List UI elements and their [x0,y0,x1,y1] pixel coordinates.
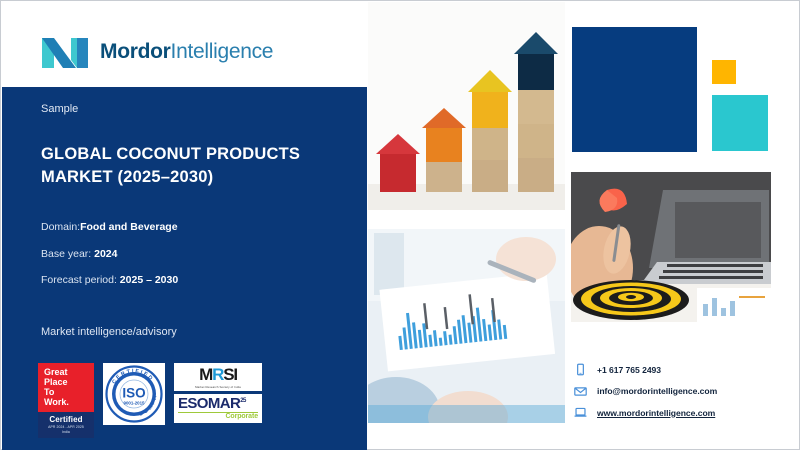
svg-text:ISO: ISO [122,386,145,401]
metadata-label-domain: Domain: [41,221,80,233]
brand-name-light: Intelligence [171,40,274,63]
cyan-square [712,95,768,151]
dart-on-target-illustration [571,172,771,322]
gptw-line-1: Great [44,367,89,377]
mrsi-subtitle: Market Research Society of India [178,385,258,389]
envelope-icon [574,385,587,398]
contact-details: +1 617 765 2493 info@mordorintelligence.… [574,363,717,419]
sample-label: Sample [41,103,78,115]
contact-row-email[interactable]: info@mordorintelligence.com [574,385,717,398]
contact-row-phone[interactable]: +1 617 765 2493 [574,363,717,376]
gptw-certified-block: Certified APR 2024 - APR 2025 India [38,412,94,439]
brand-name-bold: Mordor [100,40,171,63]
svg-text:9001-2015: 9001-2015 [124,401,146,406]
report-metadata: Domain:Food and Beverage Base year: 2024… [41,221,346,301]
mrsi-badge: MRSI Market Research Society of India [174,363,262,391]
research-association-badges: MRSI Market Research Society of India ES… [174,363,262,423]
iso-certified-badge: CERTIFIED COMPANY ISO 9001-2015 [103,363,165,425]
great-place-to-work-badge: Great Place To Work. Certified APR 2024 … [38,363,94,438]
esomar-badge: ESOMAR25 Corporate [174,394,262,424]
gptw-title: Great Place To Work. [38,363,94,412]
esomar-word: ESOMAR [178,395,240,412]
brand-logo[interactable]: MordorIntelligence [41,34,273,70]
mobile-phone-icon [574,363,587,376]
gptw-line-2: Place [44,377,89,387]
mrsi-wordmark: MRSI [178,366,258,383]
dart-target-photo [571,172,771,322]
amber-square [712,60,736,84]
page-title: GLOBAL COCONUT PRODUCTS MARKET (2025–203… [41,143,341,189]
metadata-label-forecast-period: Forecast period: [41,274,117,286]
contact-email-text: info@mordorintelligence.com [597,386,717,396]
esomar-tier: Corporate [178,413,258,421]
iso-seal-icon: CERTIFIED COMPANY ISO 9001-2015 [105,365,163,423]
gptw-line-4: Work. [44,397,89,407]
wooden-block-houses-illustration [368,2,565,210]
business-meeting-photo [368,229,565,423]
gptw-dates: APR 2024 - APR 2025 [40,425,92,429]
laptop-icon [574,406,587,419]
contact-row-website[interactable]: www.mordorintelligence.com [574,406,717,419]
contact-website-text: www.mordorintelligence.com [597,408,715,418]
brand-wordmark: MordorIntelligence [100,40,273,64]
meeting-chart-document-illustration [368,229,565,423]
metadata-row-domain: Domain:Food and Beverage [41,221,346,233]
metadata-label-base-year: Base year: [41,248,91,260]
title-panel: Sample GLOBAL COCONUT PRODUCTS MARKET (2… [2,87,367,450]
navy-square [572,27,697,152]
esomar-superscript: 25 [240,398,245,404]
metadata-value-domain: Food and Beverage [80,221,177,233]
contact-phone-text: +1 617 765 2493 [597,365,661,375]
wooden-blocks-photo [368,2,565,210]
esomar-wordmark: ESOMAR25 [178,396,258,411]
metadata-row-base-year: Base year: 2024 [41,248,346,260]
gptw-line-3: To [44,387,89,397]
metadata-value-base-year: 2024 [94,248,117,260]
gptw-region: India [40,430,92,434]
report-cover-page: MordorIntelligence Sample GLOBAL COCONUT… [0,0,800,450]
metadata-value-forecast-period: 2025 – 2030 [120,274,178,286]
gptw-certified-label: Certified [40,415,92,424]
metadata-row-forecast-period: Forecast period: 2025 – 2030 [41,274,346,286]
certification-badges: Great Place To Work. Certified APR 2024 … [38,363,262,438]
advisory-tagline: Market intelligence/advisory [41,326,177,338]
mordor-m-logo-icon [41,34,89,70]
